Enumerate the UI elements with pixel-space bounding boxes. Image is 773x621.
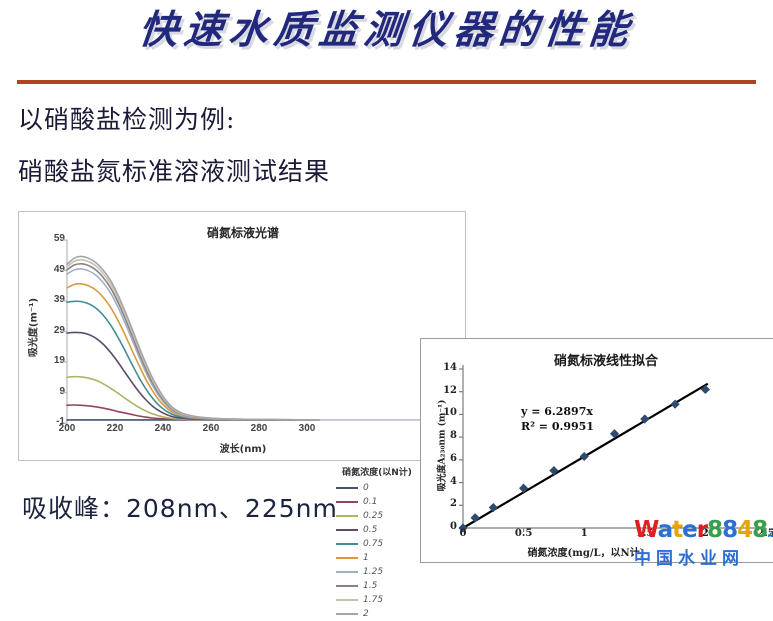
legend-item-label: 2 (363, 609, 369, 619)
linear-fit-y-tick: 6 (435, 453, 457, 464)
spectra-legend-title: 硝氮浓度(以N计) (322, 465, 432, 478)
linear-fit-y-tick: 2 (435, 498, 457, 509)
absorption-peak-note: 吸收峰：208nm、225nm (22, 489, 338, 525)
spectra-legend-item: 1 (322, 551, 432, 565)
linear-fit-chart: 硝氮标液线性拟合 吸光度A₂₃₀nm (m⁻¹) 硝氮浓度(mg/L，以N计) … (420, 338, 773, 563)
legend-color-swatch (336, 487, 358, 489)
linear-fit-y-tick: 8 (435, 430, 457, 441)
spectra-x-tick: 280 (239, 423, 279, 434)
spectra-legend-item: 1.75 (322, 593, 432, 607)
spectra-x-tick: 260 (191, 423, 231, 434)
spectra-x-tick: 220 (95, 423, 135, 434)
legend-color-swatch (336, 557, 358, 559)
body-text-line-1: 以硝酸盐检测为例: (18, 100, 235, 136)
linear-fit-x-tick: 0.5 (507, 528, 541, 539)
title-divider (17, 80, 756, 84)
linear-fit-x-tick: 1.5 (628, 528, 662, 539)
linear-fit-y-tick: 10 (435, 407, 457, 418)
legend-color-swatch (336, 585, 358, 587)
linear-fit-y-tick: 4 (435, 476, 457, 487)
legend-item-label: 0 (363, 483, 369, 493)
spectra-legend-item: 1.25 (322, 565, 432, 579)
spectra-chart: 硝氮标液光谱 吸光度(m⁻¹) 波长(nm) -191929394959 硝氮浓… (18, 211, 466, 461)
legend-item-label: 1 (363, 553, 369, 563)
legend-color-swatch (336, 613, 358, 615)
legend-item-label: 1.75 (363, 595, 383, 605)
legend-item-label: 0.5 (363, 525, 377, 535)
linear-fit-y-tick: 12 (435, 385, 457, 396)
page-title: 快速水质监测仪器的性能 (0, 6, 773, 55)
spectra-legend-item: 0.25 (322, 509, 432, 523)
legend-color-swatch (336, 529, 358, 531)
spectra-legend-item: 0.1 (322, 495, 432, 509)
spectra-legend-item: 2 (322, 607, 432, 621)
legend-item-label: 1.25 (363, 567, 383, 577)
legend-color-swatch (336, 515, 358, 517)
spectra-legend-rows: 00.10.250.50.7511.251.51.752 (322, 481, 432, 621)
spectra-legend-item: 0.5 (322, 523, 432, 537)
spectra-x-tick: 200 (47, 423, 87, 434)
spectra-x-tick: 300 (287, 423, 327, 434)
legend-color-swatch (336, 501, 358, 503)
legend-color-swatch (336, 543, 358, 545)
legend-item-label: 0.1 (363, 497, 377, 507)
legend-color-swatch (336, 571, 358, 573)
legend-item-label: 1.5 (363, 581, 377, 591)
legend-item-label: 0.25 (363, 511, 383, 521)
legend-item-label: 0.75 (363, 539, 383, 549)
spectra-legend: 硝氮浓度(以N计) 00.10.250.50.7511.251.51.752 (322, 465, 432, 621)
spectra-legend-item: 0 (322, 481, 432, 495)
linear-fit-x-tick: 1 (567, 528, 601, 539)
linear-fit-x-tick: 2.5 (749, 528, 773, 539)
spectra-x-tick: 240 (143, 423, 183, 434)
linear-fit-y-tick: 14 (435, 362, 457, 373)
spectra-legend-item: 1.5 (322, 579, 432, 593)
spectra-legend-item: 0.75 (322, 537, 432, 551)
legend-color-swatch (336, 599, 358, 601)
linear-fit-x-tick: 0 (446, 528, 480, 539)
linear-fit-x-tick: 2 (688, 528, 722, 539)
body-text-line-2: 硝酸盐氮标准溶液测试结果 (18, 152, 330, 188)
